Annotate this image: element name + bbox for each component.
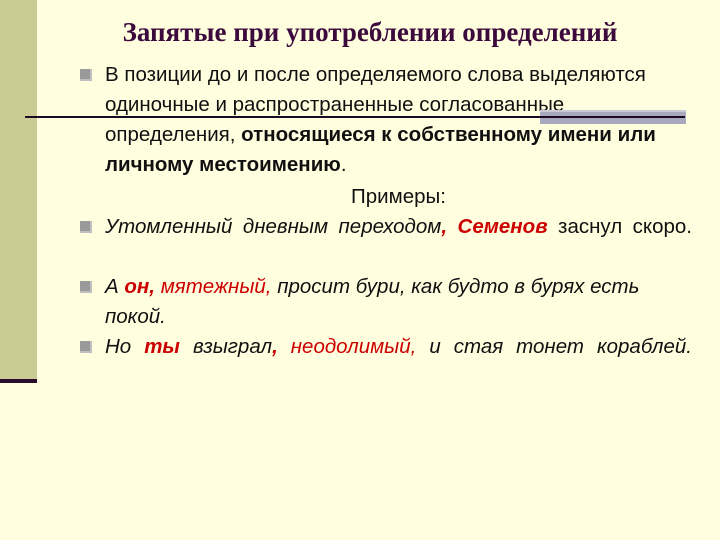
example-1-seg-2: дневным xyxy=(243,215,328,238)
list-item-example-1: Утомленный дневным переходом, Семенов за… xyxy=(78,212,692,272)
rule-text-period: . xyxy=(341,153,347,176)
example-3-text: Но ты взыграл, неодолимый, и стая тонет … xyxy=(105,332,692,392)
example-1-seg-7: Семенов xyxy=(458,215,548,238)
example-2-seg-0: А xyxy=(105,275,124,298)
example-3-seg-0: Но xyxy=(105,335,144,358)
example-3-seg-3: , xyxy=(272,335,278,358)
example-1-seg-4: переходом xyxy=(339,215,442,238)
decorative-horizontal-rule xyxy=(25,116,685,118)
example-3-seg-9: стая xyxy=(454,335,503,358)
example-2-text: А он, мятежный, просит бури, как будто в… xyxy=(105,275,639,328)
decorative-band-underline xyxy=(0,379,37,383)
square-bullet-icon xyxy=(80,221,92,233)
list-item-example-2: А он, мятежный, просит бури, как будто в… xyxy=(78,272,692,332)
example-3-seg-2: взыграл xyxy=(180,335,272,358)
example-3-seg-7: и xyxy=(429,335,440,358)
examples-label: Примеры: xyxy=(78,182,692,212)
square-bullet-icon xyxy=(80,281,92,293)
slide-title: Запятые при употреблении определений xyxy=(50,16,690,48)
square-bullet-icon xyxy=(80,69,92,81)
example-1-text: Утомленный дневным переходом, Семенов за… xyxy=(105,212,692,272)
example-2-seg-3: мятежный, xyxy=(161,275,272,298)
example-1-seg-8: заснул скоро. xyxy=(548,215,692,238)
slide-canvas: Запятые при употреблении определений В п… xyxy=(0,0,720,540)
square-bullet-icon xyxy=(80,341,92,353)
example-2-seg-1: он, xyxy=(124,275,155,298)
decorative-left-band xyxy=(0,0,37,382)
example-3-seg-1: ты xyxy=(144,335,180,358)
example-1-seg-0: Утомленный xyxy=(105,215,232,238)
example-3-seg-10: тонет кораблей. xyxy=(503,335,692,358)
list-item-example-3: Но ты взыграл, неодолимый, и стая тонет … xyxy=(78,332,692,392)
example-3-seg-5: неодолимый, xyxy=(291,335,417,358)
